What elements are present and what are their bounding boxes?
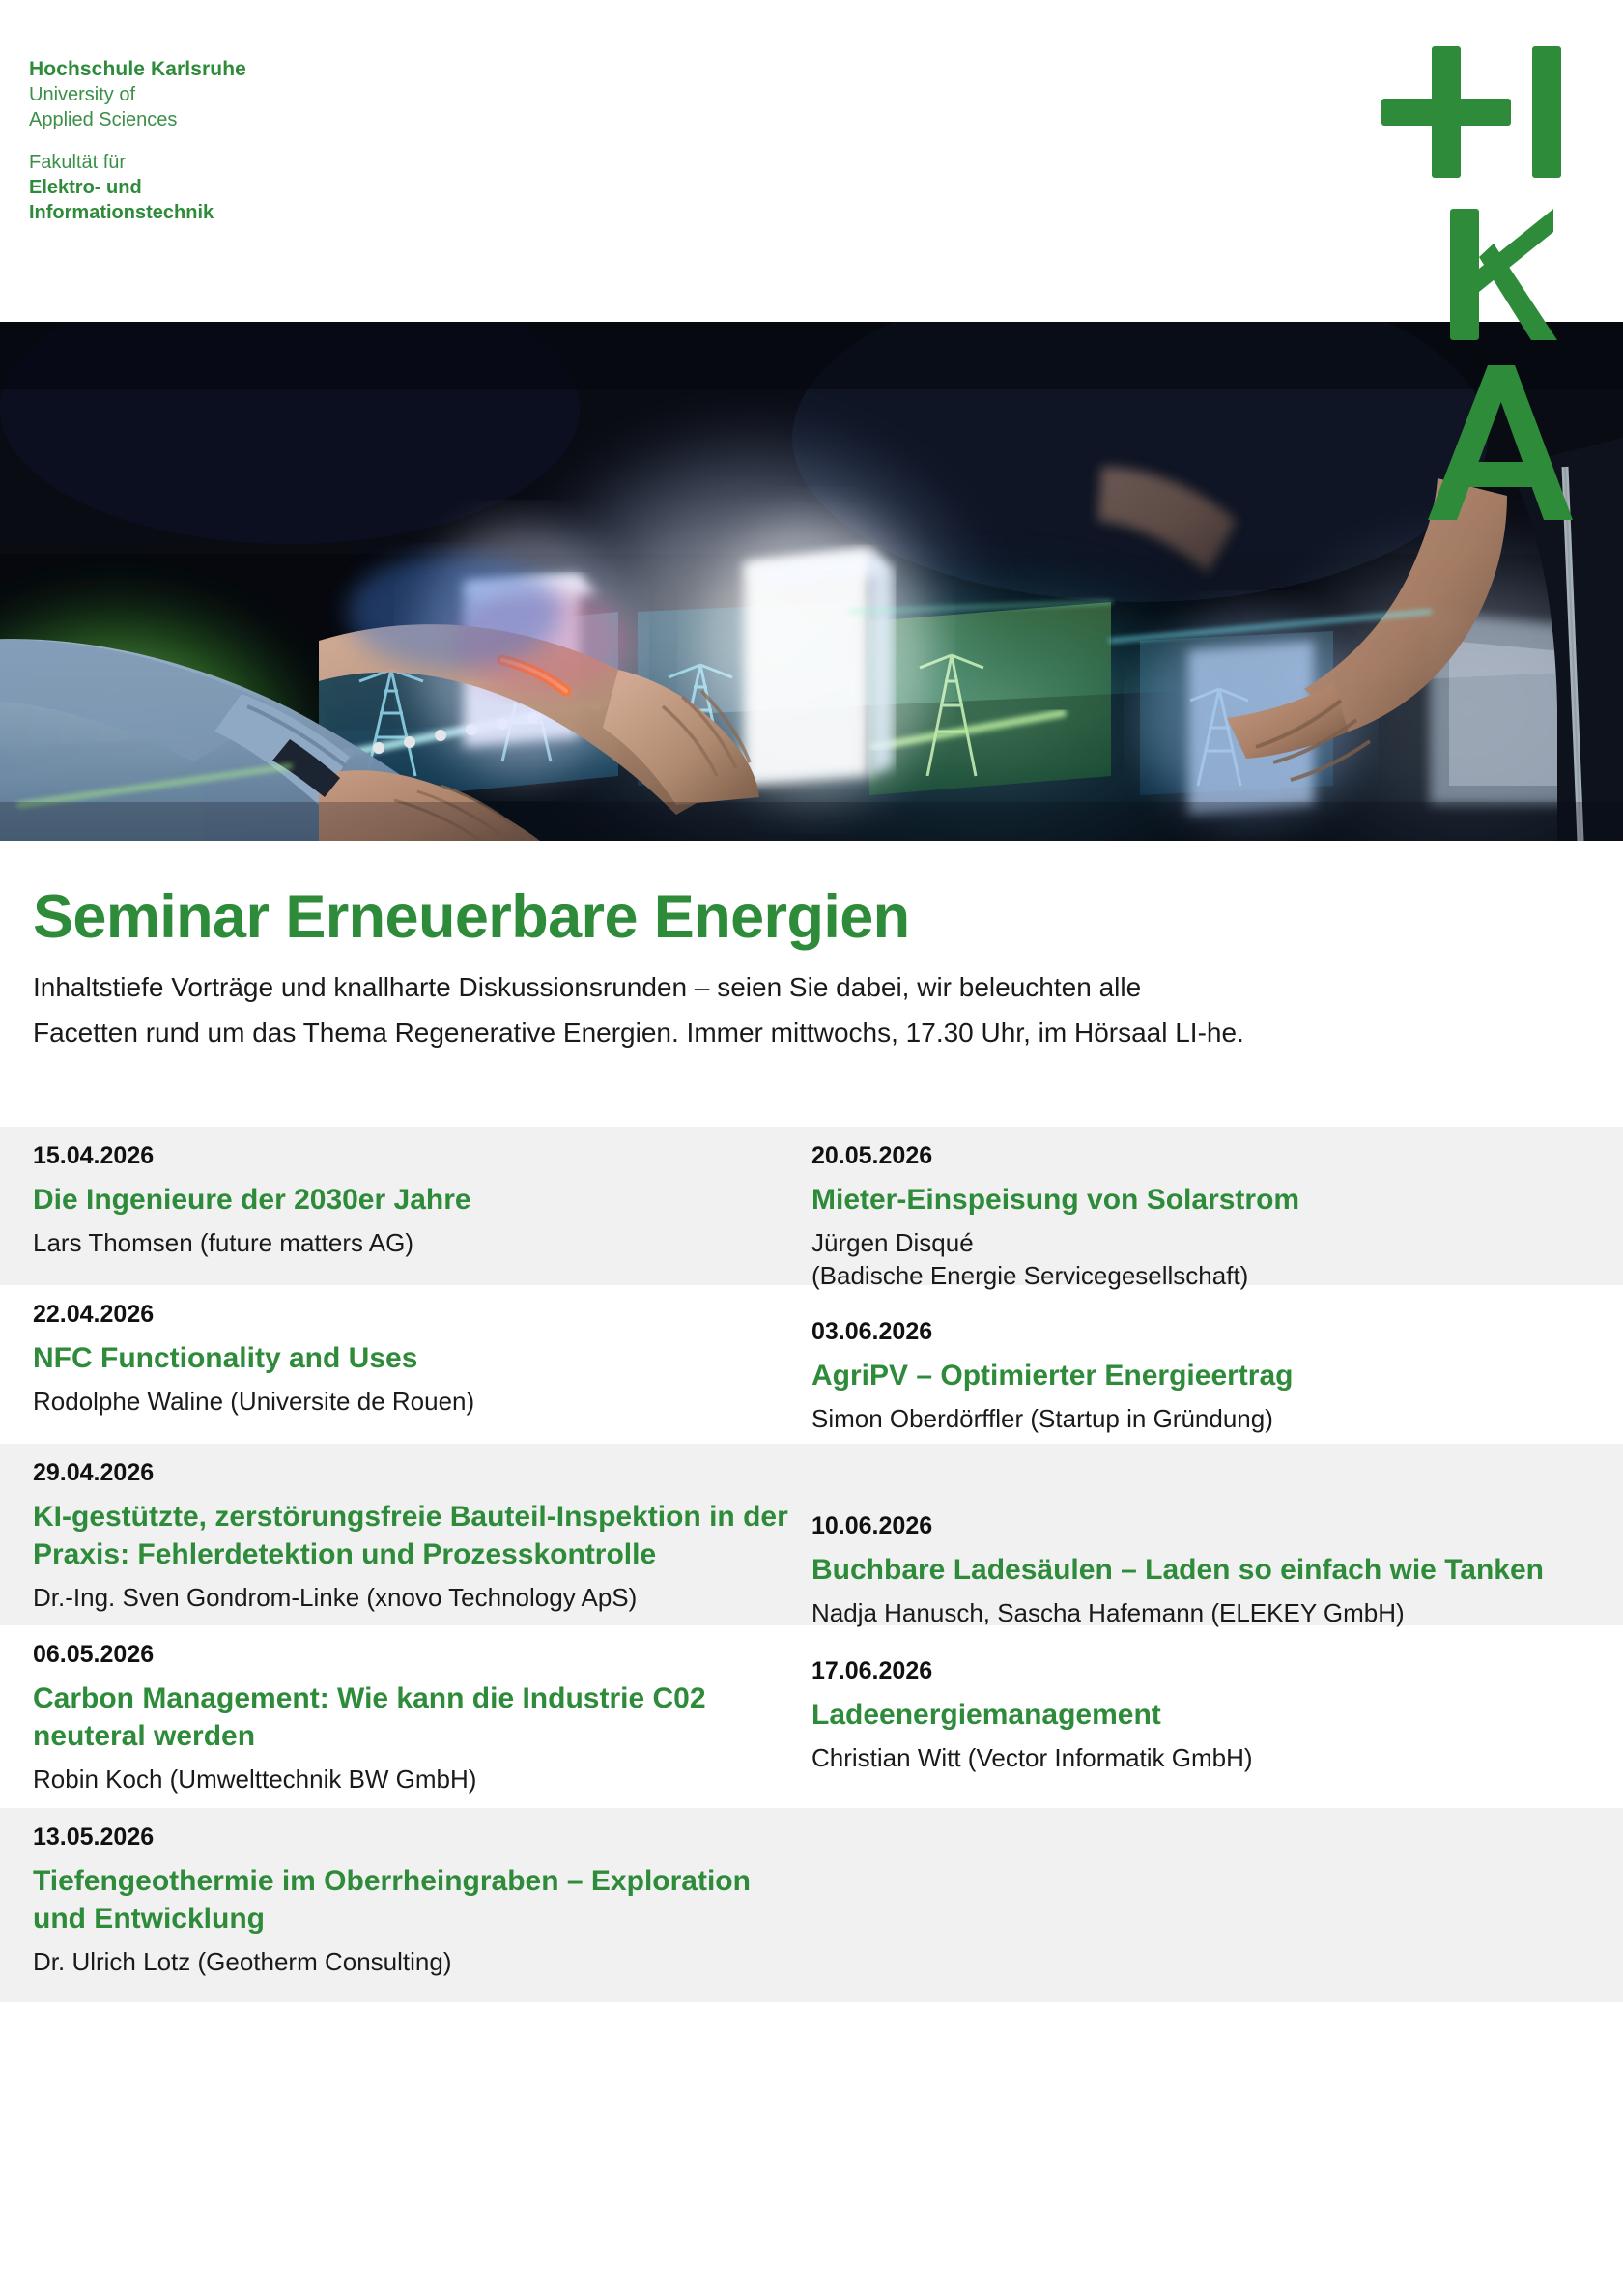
entry-date: 10.06.2026 <box>811 1514 1600 1538</box>
faculty-name-line1: Elektro- und <box>29 175 246 200</box>
entry-date: 20.05.2026 <box>811 1144 1600 1168</box>
entry-date: 03.06.2026 <box>811 1320 1600 1344</box>
institution-name-line1: Hochschule Karlsruhe <box>29 56 246 82</box>
institution-name-line2: University of <box>29 82 246 107</box>
entry-date: 17.06.2026 <box>811 1659 1600 1683</box>
entry-date: 13.05.2026 <box>33 1825 788 1850</box>
entry-title: AgriPV – Optimierter Energieertrag <box>811 1357 1600 1394</box>
program-column-left: 15.04.2026 Die Ingenieure der 2030er Jah… <box>0 1127 811 2002</box>
program-entry[interactable]: 10.06.2026 Buchbare Ladesäulen – Laden s… <box>811 1497 1600 1642</box>
entry-title: Ladeenergiemanagement <box>811 1696 1600 1734</box>
program-entry[interactable]: 06.05.2026 Carbon Management: Wie kann d… <box>33 1625 788 1808</box>
entry-speaker: Robin Koch (Umwelttechnik BW GmbH) <box>33 1764 788 1796</box>
program-entry[interactable]: 20.05.2026 Mieter-Einspeisung von Solars… <box>811 1127 1600 1305</box>
entry-title: Die Ingenieure der 2030er Jahre <box>33 1181 788 1219</box>
entry-speaker: Christian Witt (Vector Informatik GmbH) <box>811 1742 1600 1775</box>
program-entry[interactable]: 15.04.2026 Die Ingenieure der 2030er Jah… <box>33 1127 788 1285</box>
entry-speaker: Rodolphe Waline (Universite de Rouen) <box>33 1386 788 1419</box>
entry-speaker: Nadja Hanusch, Sascha Hafemann (ELEKEY G… <box>811 1597 1600 1630</box>
entry-date: 29.04.2026 <box>33 1461 788 1485</box>
poster-header: Hochschule Karlsruhe University of Appli… <box>0 0 1623 322</box>
program-section: 15.04.2026 Die Ingenieure der 2030er Jah… <box>0 1127 1623 2002</box>
entry-speaker: Lars Thomsen (future matters AG) <box>33 1227 788 1260</box>
brand-block: Hochschule Karlsruhe University of Appli… <box>29 56 246 225</box>
institution-name-line3: Applied Sciences <box>29 107 246 132</box>
intro-line-2: Facetten rund um das Thema Regenerative … <box>0 1009 1611 1054</box>
faculty-name-line2: Informationstechnik <box>29 200 246 225</box>
entry-speaker: Simon Oberdörffler (Startup in Gründung) <box>811 1403 1600 1436</box>
program-column-right: 20.05.2026 Mieter-Einspeisung von Solars… <box>811 1127 1623 2002</box>
entry-title: Mieter-Einspeisung von Solarstrom <box>811 1181 1600 1219</box>
entry-title: Carbon Management: Wie kann die Industri… <box>33 1679 788 1755</box>
entry-speaker: Dr.-Ing. Sven Gondrom-Linke (xnovo Techn… <box>33 1582 788 1615</box>
entry-speaker: Dr. Ulrich Lotz (Geotherm Consulting) <box>33 1946 788 1979</box>
intro-line-1: Inhaltstiefe Vorträge und knallharte Dis… <box>0 948 1611 1009</box>
hero-photo: 60 MW <box>0 322 1623 841</box>
entry-date: 06.05.2026 <box>33 1643 788 1667</box>
program-entry[interactable]: 03.06.2026 AgriPV – Optimierter Energiee… <box>811 1305 1600 1498</box>
program-entry[interactable]: 29.04.2026 KI-gestützte, zerstörungsfrei… <box>33 1444 788 1626</box>
entry-title: Tiefengeothermie im Oberrheingraben – Ex… <box>33 1862 788 1937</box>
entry-date: 22.04.2026 <box>33 1303 788 1327</box>
entry-title: KI-gestützte, zerstörungsfreie Bauteil-I… <box>33 1498 788 1573</box>
brand-spacer <box>29 132 246 150</box>
entry-date: 15.04.2026 <box>33 1144 788 1168</box>
page-title: Seminar Erneuerbare Energien <box>0 841 1623 948</box>
entry-title: Buchbare Ladesäulen – Laden so einfach w… <box>811 1551 1600 1589</box>
program-columns: 15.04.2026 Die Ingenieure der 2030er Jah… <box>0 1127 1623 2002</box>
program-entry[interactable]: 22.04.2026 NFC Functionality and Uses Ro… <box>33 1285 788 1444</box>
entry-title: NFC Functionality and Uses <box>33 1339 788 1377</box>
faculty-label: Fakultät für <box>29 150 246 175</box>
entry-speaker: Jürgen Disqué <box>811 1227 1600 1260</box>
entry-speaker-affiliation: (Badische Energie Servicegesellschaft) <box>811 1260 1600 1293</box>
program-entry[interactable]: 13.05.2026 Tiefengeothermie im Oberrhein… <box>33 1808 788 2002</box>
program-entry[interactable]: 17.06.2026 Ladeenergiemanagement Christi… <box>811 1642 1600 1798</box>
title-block: Seminar Erneuerbare Energien Inhaltstief… <box>0 841 1623 1053</box>
